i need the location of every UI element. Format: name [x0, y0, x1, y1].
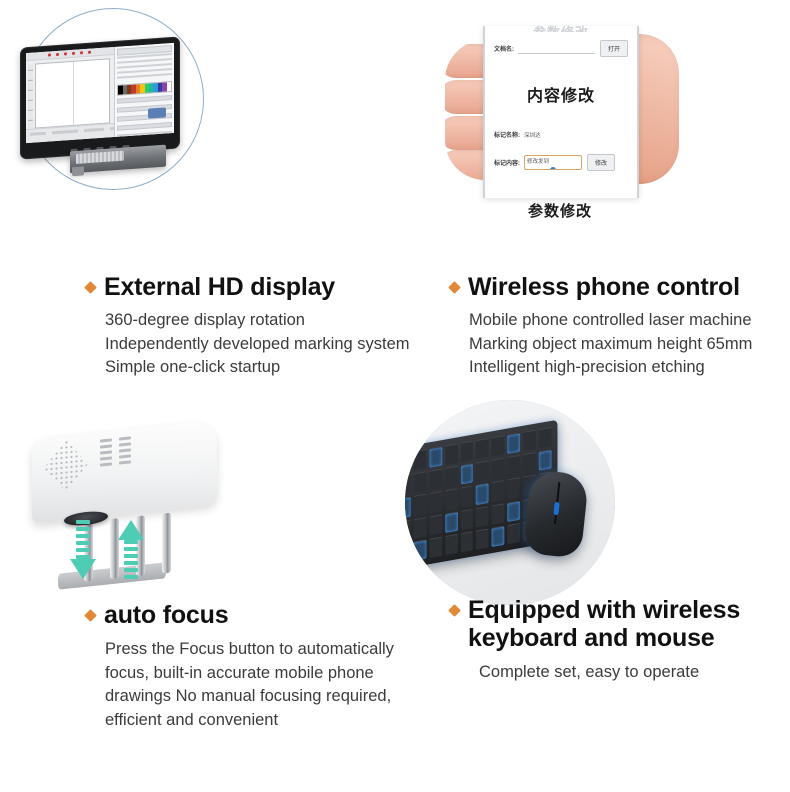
phone-modify-button[interactable]: 修改 [587, 154, 615, 171]
feature-title-row: Equipped with wireless keyboard and mous… [450, 596, 790, 652]
keyboard-mouse-photo [395, 396, 790, 614]
phone-caption: 参数修改 [445, 200, 675, 221]
feature-title: External HD display [104, 272, 335, 302]
panel-action-button [148, 107, 166, 118]
monitor-screen [26, 43, 174, 143]
feature-card-wireless-phone-control: 参数修改 文档名: 打开 内容修改 标记名称: 深圳达 标记内容: 修改发到 [395, 0, 790, 396]
phone-mark-content-input[interactable]: 修改发到 [524, 155, 582, 170]
color-palette [117, 81, 172, 96]
diamond-bullet-icon [84, 609, 97, 622]
feature-line: Marking object maximum height 65mm [469, 333, 790, 357]
feature-title: auto focus [104, 601, 228, 630]
phone-mark-content-row: 标记内容: 修改发到 修改 [494, 154, 628, 171]
phone-mark-name-row: 标记名称: 深圳达 [494, 130, 628, 139]
focus-up-arrow-icon [118, 520, 144, 579]
wireless-mouse [523, 469, 589, 559]
phone-in-hands-photo: 参数修改 文档名: 打开 内容修改 标记名称: 深圳达 标记内容: 修改发到 [395, 0, 790, 218]
feature-description: Mobile phone controlled laser machine Ma… [469, 309, 790, 380]
feature-line: Mobile phone controlled laser machine [469, 309, 790, 333]
laser-head-photo [0, 396, 395, 614]
software-canvas [35, 58, 110, 128]
feature-title-row: Wireless phone control [450, 272, 790, 302]
phone-file-input[interactable] [518, 44, 595, 54]
keyboard-mouse-illustration [405, 400, 615, 605]
feature-line: Complete set, easy to operate [479, 661, 790, 685]
diamond-bullet-icon [84, 281, 97, 294]
feature-text-block: Equipped with wireless keyboard and mous… [395, 596, 790, 685]
marking-software-properties-panel [115, 43, 174, 137]
feature-text-block: Wireless phone control Mobile phone cont… [395, 272, 790, 380]
feature-card-auto-focus: auto focus Press the Focus button to aut… [0, 396, 395, 792]
laser-head-slot-vents [100, 436, 131, 466]
feature-grid: External HD display 360-degree display r… [0, 0, 790, 792]
feature-description: Complete set, easy to operate [479, 661, 790, 685]
diamond-bullet-icon [448, 281, 461, 294]
focus-down-arrow-icon [70, 520, 96, 579]
marking-software-canvas-area [26, 47, 115, 143]
phone-mark-name-value: 深圳达 [524, 131, 541, 139]
feature-card-wireless-keyboard-mouse: Equipped with wireless keyboard and mous… [395, 396, 790, 792]
phone-ghost-text: 参数修改 [485, 22, 637, 32]
phone-open-button[interactable]: 打开 [600, 40, 628, 57]
monitor-photo [0, 0, 395, 218]
phone-file-row: 文档名: 打开 [494, 40, 628, 57]
phone-screen-title: 内容修改 [485, 82, 637, 106]
feature-card-external-hd-display: External HD display 360-degree display r… [0, 0, 395, 396]
feature-title: Equipped with wireless keyboard and mous… [468, 596, 768, 652]
phone-illustration: 参数修改 文档名: 打开 内容修改 标记名称: 深圳达 标记内容: 修改发到 [445, 10, 675, 215]
laser-head-illustration [22, 416, 232, 586]
feature-line: Intelligent high-precision etching [469, 356, 790, 380]
phone-mark-content-label: 标记内容: [494, 158, 520, 167]
panel-rows [117, 53, 172, 82]
software-ruler [28, 64, 33, 129]
phone-mark-name-label: 标记名称: [494, 130, 520, 139]
phone-screen: 参数修改 文档名: 打开 内容修改 标记名称: 深圳达 标记内容: 修改发到 [483, 26, 639, 198]
monitor-illustration [20, 36, 180, 159]
diamond-bullet-icon [448, 604, 461, 617]
phone-file-label: 文档名: [494, 44, 514, 53]
feature-title: Wireless phone control [468, 272, 740, 302]
